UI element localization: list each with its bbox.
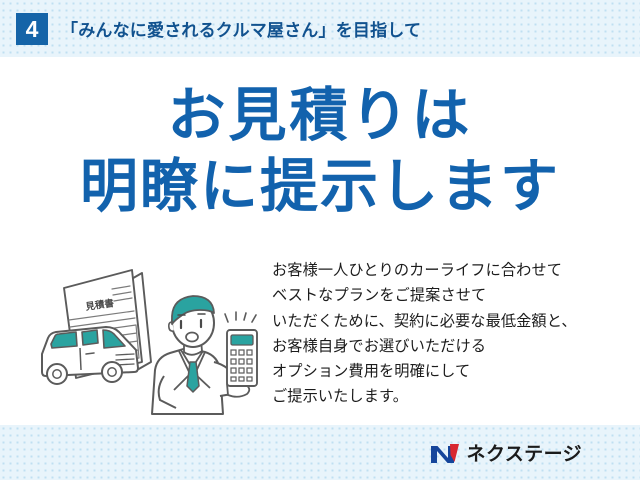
body-line-1: お客様一人ひとりのカーライフに合わせて [272, 258, 624, 283]
header-band: 4 「みんなに愛されるクルマ屋さん」を目指して [0, 0, 640, 57]
brand-logo: ネクステージ [430, 439, 582, 466]
body-line-4: お客様自身でお選びいただける [272, 334, 624, 359]
header-title: 「みんなに愛されるクルマ屋さん」を目指して [61, 16, 421, 41]
headline-line-2: 明瞭に提示します [0, 152, 640, 222]
step-number-badge: 4 [16, 13, 48, 45]
footer-band: ネクステージ [0, 425, 640, 480]
nextage-n-logo-icon [430, 442, 460, 464]
illustration-artwork: 見積書 [24, 258, 270, 416]
body-copy: お客様一人ひとりのカーライフに合わせて ベストなプランをご提案させて いただくた… [272, 258, 624, 410]
headline-line-1: お見積りは [0, 80, 640, 152]
body-line-5: オプション費用を明確にして [272, 359, 624, 384]
calculator-shape [225, 312, 257, 386]
brand-name-text: ネクステージ [467, 439, 582, 466]
headline-block: お見積りは 明瞭に提示します [0, 80, 640, 222]
advertisement-page: 4 「みんなに愛されるクルマ屋さん」を目指して お見積りは 明瞭に提示します 見… [0, 0, 640, 480]
salesman-illustration: 見積書 [24, 258, 270, 416]
body-line-2: ベストなプランをご提案させて [272, 283, 624, 308]
body-line-3: いただくために、契約に必要な最低金額と、 [272, 309, 624, 334]
body-line-6: ご提示いたします。 [272, 384, 624, 409]
